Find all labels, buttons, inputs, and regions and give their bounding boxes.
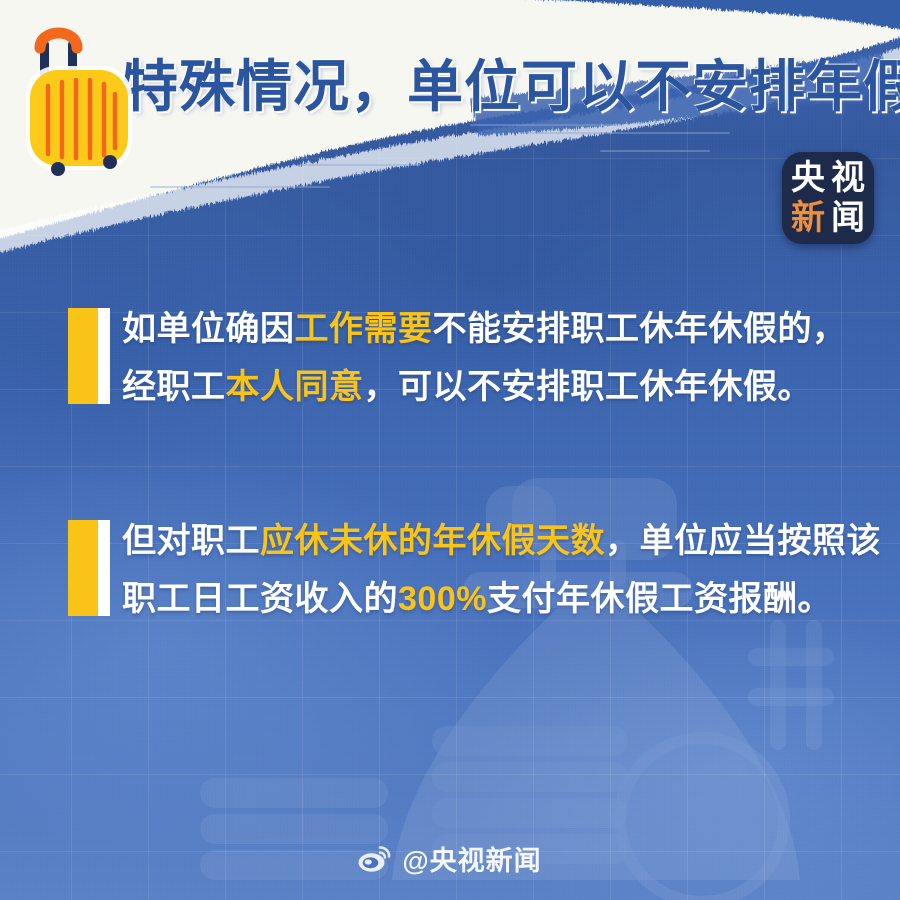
paragraph-2: 但对职工应休未休的年休假天数，单位应当按照该 职工日工资收入的300%支付年休假…	[0, 512, 900, 628]
paragraph-1: 如单位确因工作需要不能安排职工休年休假的， 经职工本人同意，可以不安排职工休年休…	[0, 300, 900, 416]
text-segment-highlight: 工作需要	[295, 310, 433, 348]
weibo-handle[interactable]: @央视新闻	[402, 839, 541, 878]
bullet-bar-white	[98, 520, 110, 616]
logo-char-1: 央	[791, 161, 825, 195]
text-segment: ，单位应当按照该	[605, 522, 881, 560]
text-segment: ，可以不安排职工休年休假。	[364, 368, 813, 406]
paragraph-1-line-1: 如单位确因工作需要不能安排职工休年休假的，	[122, 300, 900, 358]
bullet-marker	[68, 308, 110, 404]
bullet-marker	[68, 520, 110, 616]
suitcase-icon	[16, 14, 146, 194]
text-segment: 经职工	[122, 368, 226, 406]
text-segment: 如单位确因	[122, 310, 295, 348]
page-title: 特殊情况，单位可以不安排年假	[122, 42, 900, 123]
bullet-bar-yellow	[68, 308, 98, 404]
paragraph-1-line-2: 经职工本人同意，可以不安排职工休年休假。	[122, 358, 900, 416]
bullet-bar-yellow	[68, 520, 98, 616]
logo-char-3: 新	[791, 201, 825, 235]
text-segment: 支付年休假工资报酬。	[487, 580, 832, 618]
bullet-bar-white	[98, 308, 110, 404]
footer: @央视新闻	[0, 839, 900, 878]
paragraph-2-line-2: 职工日工资收入的300%支付年休假工资报酬。	[122, 570, 900, 628]
content-body: 如单位确因工作需要不能安排职工休年休假的， 经职工本人同意，可以不安排职工休年休…	[0, 300, 900, 724]
text-segment-highlight: 300%	[398, 580, 487, 618]
poster: 特殊情况，单位可以不安排年假 央 视 新 闻 如单位确因工作需要不能安排职工休年…	[0, 0, 900, 900]
logo-char-4: 闻	[831, 201, 865, 235]
weibo-icon[interactable]	[358, 845, 392, 872]
text-segment: 不能安排职工休年休假的，	[433, 310, 847, 348]
text-segment: 但对职工	[122, 522, 260, 560]
text-segment-highlight: 本人同意	[226, 368, 364, 406]
paragraph-2-line-1: 但对职工应休未休的年休假天数，单位应当按照该	[122, 512, 900, 570]
logo-char-2: 视	[831, 161, 865, 195]
text-segment-highlight: 应休未休的年休假天数	[260, 522, 605, 560]
text-segment: 职工日工资收入的	[122, 580, 398, 618]
cctv-news-logo[interactable]: 央 视 新 闻	[782, 152, 874, 244]
